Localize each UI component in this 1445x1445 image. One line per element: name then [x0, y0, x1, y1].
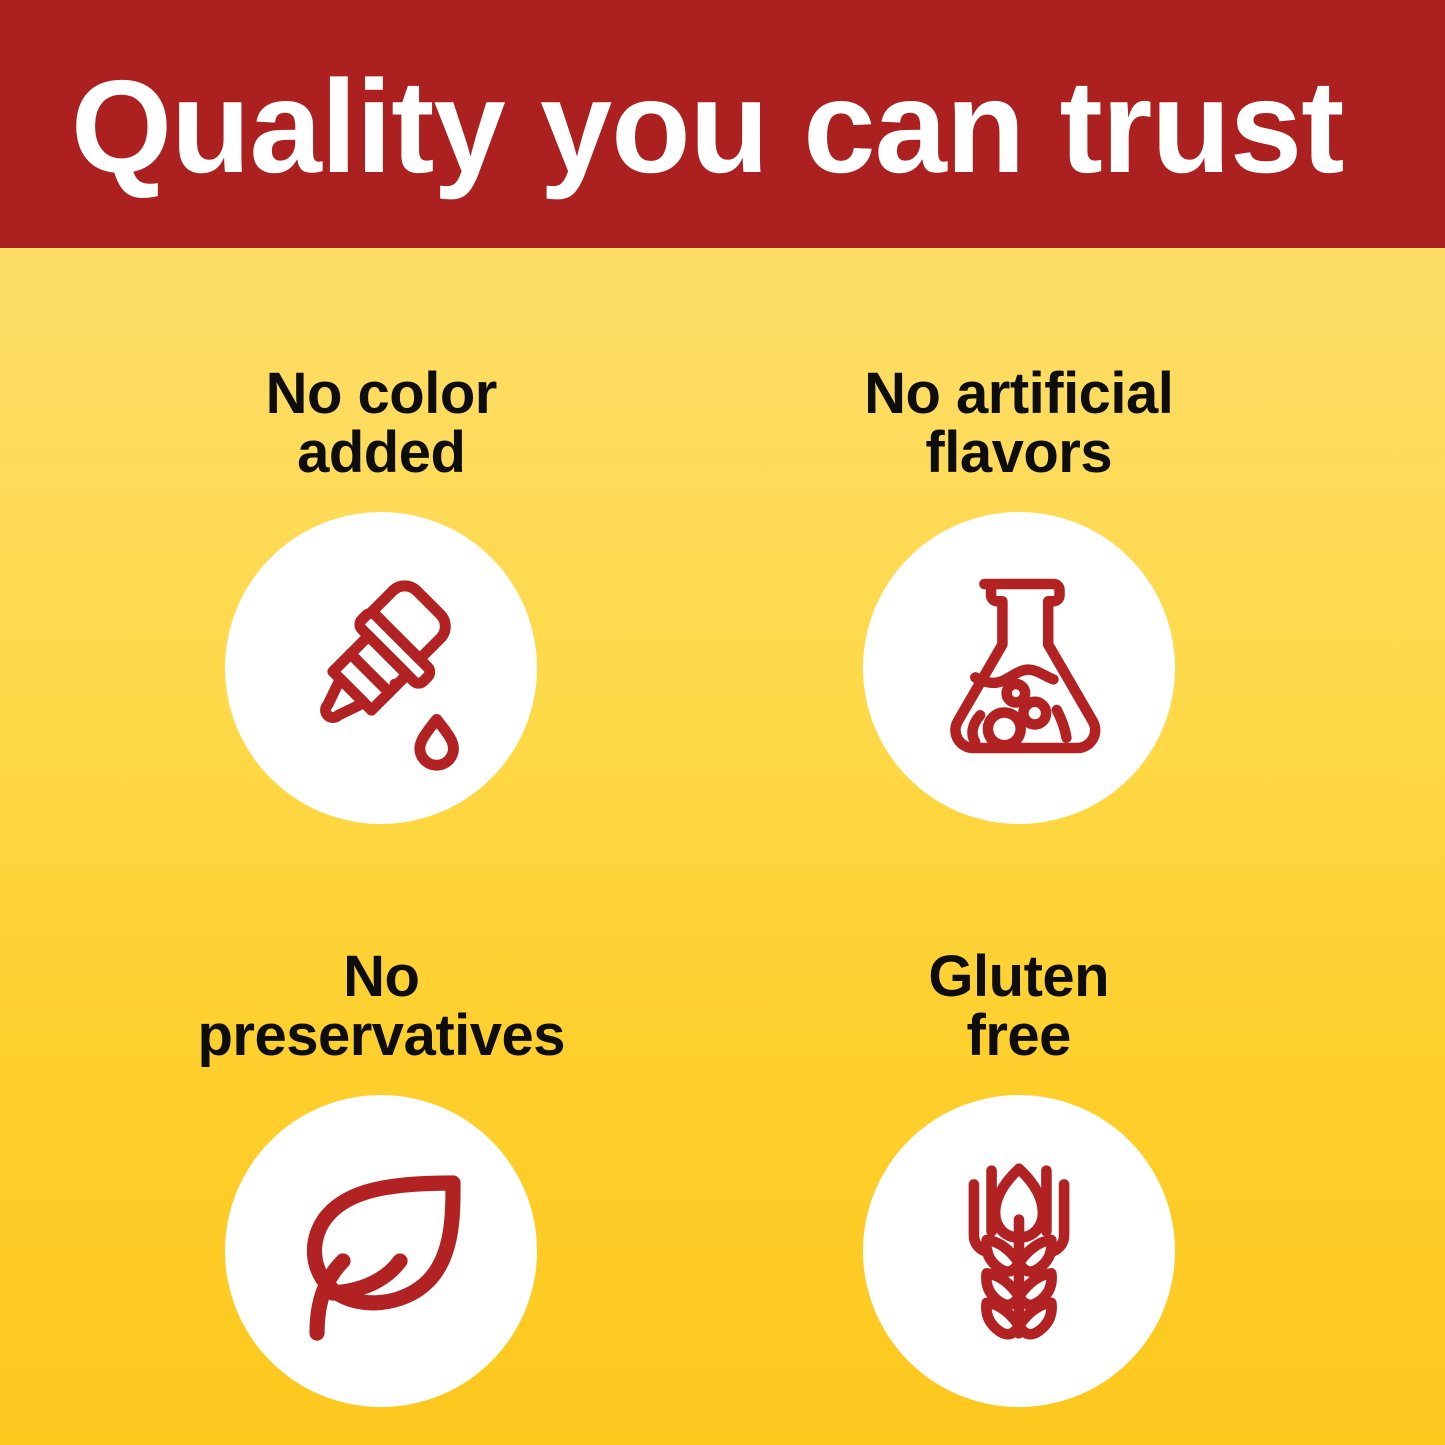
quality-badge-poster: Quality you can trust No color added	[0, 0, 1445, 1445]
claim-icon-badge	[225, 512, 537, 824]
dropper-icon	[276, 563, 486, 773]
claims-grid: No color added	[0, 248, 1445, 1445]
flask-icon	[914, 563, 1124, 773]
claim-icon-badge	[863, 1095, 1175, 1407]
claim-no-artificial-flavors: No artificial flavors	[723, 248, 1445, 847]
claim-label: No artificial flavors	[864, 364, 1173, 482]
claim-icon-badge	[863, 512, 1175, 824]
claim-no-preservatives: No preservatives	[0, 847, 723, 1445]
wheat-icon	[921, 1153, 1117, 1349]
leaf-icon	[281, 1151, 481, 1351]
claim-gluten-free: Gluten free	[723, 847, 1445, 1445]
header-banner: Quality you can trust	[0, 0, 1445, 248]
claim-label: No preservatives	[197, 947, 565, 1065]
page-title: Quality you can trust	[0, 61, 1343, 193]
claim-no-color-added: No color added	[0, 248, 723, 847]
claim-label: No color added	[266, 364, 497, 482]
claim-icon-badge	[225, 1095, 537, 1407]
claim-label: Gluten free	[928, 947, 1109, 1065]
